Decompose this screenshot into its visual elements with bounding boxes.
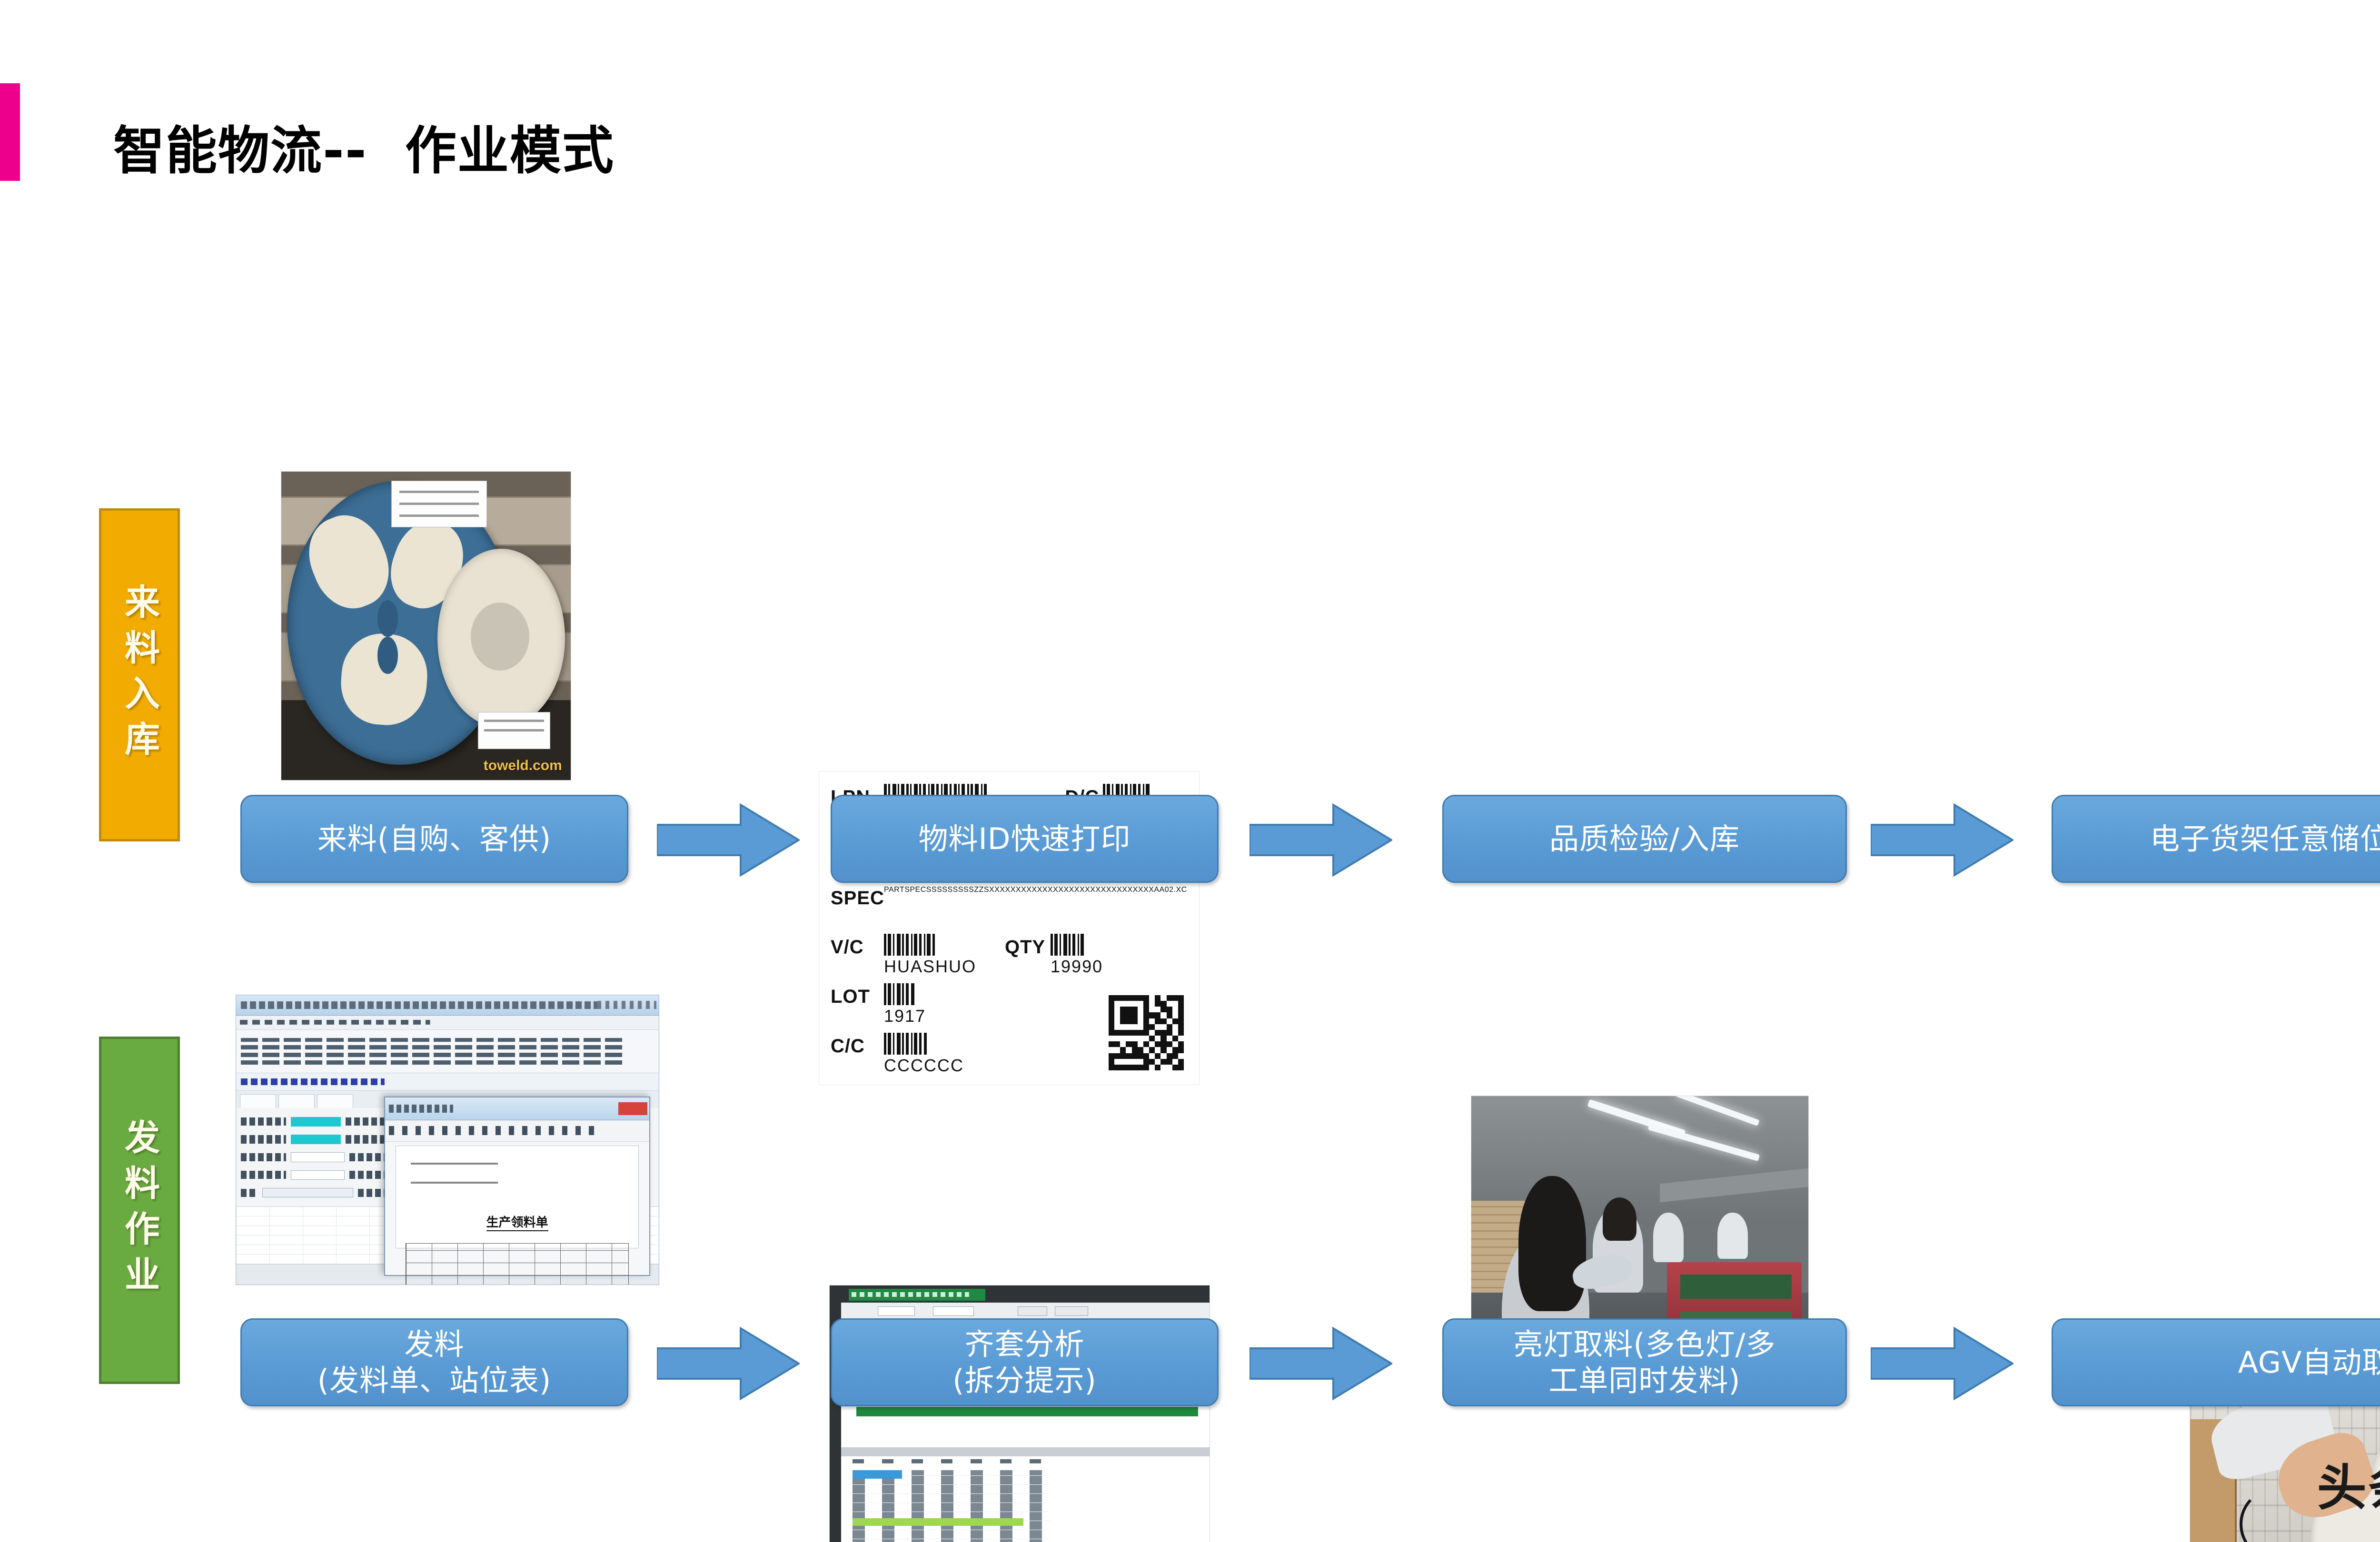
erp-issue-screenshot: 生产领料单 bbox=[236, 995, 659, 1285]
step-chip-inbound-4[interactable]: 电子货架任意储位绑定作业 bbox=[2052, 795, 2380, 883]
page-title: 智能物流-- 作业模式 bbox=[113, 109, 615, 184]
white-reel bbox=[437, 549, 565, 728]
flow-arrow-inbound-1 bbox=[657, 802, 800, 878]
label-value-qty: 19990 bbox=[1051, 957, 1103, 977]
inbound-flow-row: toweld.com LPN bbox=[0, 452, 2380, 919]
photo-watermark: toweld.com bbox=[484, 758, 562, 774]
barcode-vc bbox=[884, 934, 993, 956]
barcode-qty bbox=[1051, 934, 1103, 956]
label-value-vc: HUASHUO bbox=[884, 957, 993, 977]
flow-arrow-outbound-2 bbox=[1249, 1325, 1392, 1402]
step-chip-inbound-3[interactable]: 品质检验/入库 bbox=[1442, 795, 1847, 883]
flow-arrow-inbound-3 bbox=[1871, 802, 2013, 878]
step-chip-outbound-4[interactable]: AGV自动取料 bbox=[2052, 1318, 2380, 1406]
channel-watermark: 头条 @大音智能 bbox=[2317, 1447, 2380, 1519]
step-chip-inbound-1[interactable]: 来料(自购、客供) bbox=[240, 795, 628, 883]
label-field-vc: V/C HUASHUO QTY bbox=[831, 934, 1188, 977]
smt-reel-photo: toweld.com bbox=[281, 471, 571, 781]
accent-bar bbox=[0, 83, 20, 181]
step-chip-inbound-2[interactable]: 物料ID快速打印 bbox=[831, 795, 1219, 883]
flow-arrow-outbound-3 bbox=[1871, 1325, 2013, 1402]
flow-arrow-outbound-1 bbox=[657, 1325, 800, 1402]
reel-label-top bbox=[391, 481, 487, 527]
outbound-flow-row: 生产领料单 bbox=[0, 976, 2380, 1442]
slide-root: 智能物流-- 作业模式 来料入库 发料作业 toweld.com bbox=[0, 0, 2380, 1542]
label-key-vc: V/C bbox=[831, 934, 884, 958]
label-value-spec: PARTSPECSSSSSSSSSZZSXXXXXXXXXXXXXXXXXXXX… bbox=[884, 886, 1188, 894]
label-field-spec: SPEC PARTSPECSSSSSSSSSZZSXXXXXXXXXXXXXXX… bbox=[831, 885, 1188, 909]
label-key-spec: SPEC bbox=[831, 885, 884, 909]
step-chip-outbound-2[interactable]: 齐套分析 (拆分提示) bbox=[831, 1318, 1219, 1406]
step-chip-outbound-3[interactable]: 亮灯取料(多色灯/多 工单同时发料) bbox=[1442, 1318, 1847, 1406]
step-chip-outbound-1[interactable]: 发料 (发料单、站位表) bbox=[240, 1318, 628, 1406]
print-preview-doc-title: 生产领料单 bbox=[486, 1213, 548, 1231]
print-preview-window: 生产领料单 bbox=[384, 1097, 650, 1276]
reel-label-small bbox=[478, 712, 550, 749]
label-key-qty: QTY bbox=[1005, 934, 1051, 958]
flow-arrow-inbound-2 bbox=[1249, 802, 1392, 878]
